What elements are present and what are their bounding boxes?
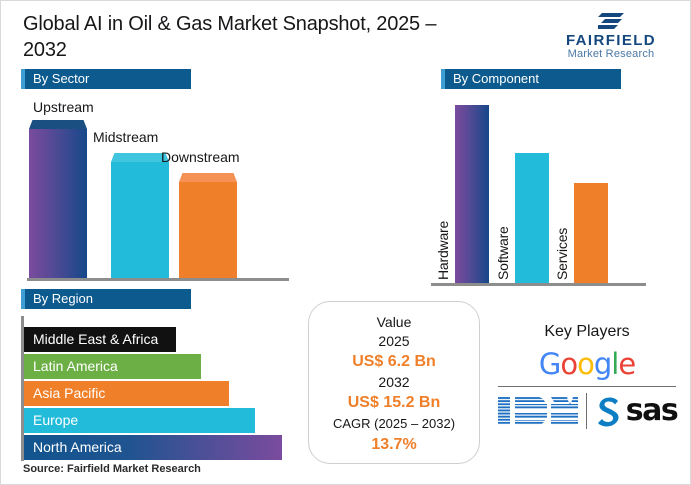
section-banner-sector: By Sector xyxy=(21,69,191,89)
sas-wordmark: sas xyxy=(626,396,677,426)
region-bar-europe: Europe xyxy=(24,408,255,433)
component-label-hardware: Hardware xyxy=(435,221,451,280)
value-box-cagr-value: 13.7% xyxy=(309,434,479,456)
sector-label-upstream: Upstream xyxy=(33,99,94,115)
region-bar-latin-america: Latin America xyxy=(24,354,201,379)
sector-label-midstream: Midstream xyxy=(93,129,158,145)
component-label-software: Software xyxy=(495,226,511,280)
chart-by-region: Middle East & Africa Latin America Asia … xyxy=(21,316,306,461)
component-bar-services xyxy=(574,183,608,283)
value-box-heading: Value xyxy=(309,313,479,332)
sector-bar-downstream xyxy=(179,173,237,278)
key-players-title: Key Players xyxy=(493,323,681,341)
section-banner-component-label: By Component xyxy=(445,69,539,89)
sas-logo: sas xyxy=(594,394,677,428)
value-box-base-year: 2025 xyxy=(309,332,479,351)
google-letter-o1: o xyxy=(560,347,577,381)
region-label: North America xyxy=(24,435,122,460)
region-bar-middle-east-africa: Middle East & Africa xyxy=(24,327,176,352)
brand-logo: FAIRFIELD Market Research xyxy=(550,11,672,61)
bar-cap xyxy=(179,173,237,182)
source-note: Source: Fairfield Market Research xyxy=(23,463,201,475)
google-letter-o2: o xyxy=(577,347,594,381)
component-baseline xyxy=(431,283,646,286)
ibm-logo xyxy=(497,394,579,428)
logo-divider xyxy=(498,386,676,387)
google-logo: Google xyxy=(493,347,681,381)
brand-name: FAIRFIELD xyxy=(550,33,672,48)
region-bar-asia-pacific: Asia Pacific xyxy=(24,381,229,406)
region-label: Asia Pacific xyxy=(24,381,105,406)
value-box-forecast-value: US$ 15.2 Bn xyxy=(309,392,479,414)
key-players-panel: Key Players Google xyxy=(493,323,681,431)
google-letter-g1: G xyxy=(539,347,560,381)
sector-bar-midstream xyxy=(111,153,169,278)
value-box-forecast-year: 2032 xyxy=(309,373,479,392)
value-summary-box: Value 2025 US$ 6.2 Bn 2032 US$ 15.2 Bn C… xyxy=(308,301,480,464)
infographic-canvas: Global AI in Oil & Gas Market Snapshot, … xyxy=(0,0,691,485)
google-letter-e: e xyxy=(618,347,635,381)
logo-separator xyxy=(586,393,587,429)
fairfield-mark-icon xyxy=(596,11,626,31)
region-label: Middle East & Africa xyxy=(24,327,158,352)
section-banner-region-label: By Region xyxy=(25,289,93,309)
bar-cap xyxy=(29,120,87,129)
value-box-cagr-label: CAGR (2025 – 2032) xyxy=(309,414,479,434)
region-label: Latin America xyxy=(24,354,118,379)
component-label-services: Services xyxy=(554,228,570,280)
page-title: Global AI in Oil & Gas Market Snapshot, … xyxy=(23,11,443,63)
brand-subtitle: Market Research xyxy=(550,48,672,61)
logo-row: sas xyxy=(493,391,681,431)
google-letter-g2: g xyxy=(594,347,611,381)
sector-label-downstream: Downstream xyxy=(161,149,240,165)
value-box-base-value: US$ 6.2 Bn xyxy=(309,351,479,373)
bar-body xyxy=(179,182,237,278)
region-bar-north-america: North America xyxy=(24,435,282,460)
sector-bar-upstream xyxy=(29,120,87,278)
section-banner-sector-label: By Sector xyxy=(25,69,89,89)
section-banner-region: By Region xyxy=(21,289,191,309)
component-bar-software xyxy=(515,153,549,283)
sector-baseline xyxy=(27,278,289,281)
chart-by-component: Hardware Software Services xyxy=(431,101,646,286)
bar-body xyxy=(29,129,87,278)
sas-swirl-icon xyxy=(594,394,626,428)
chart-by-sector: Upstream Midstream Downstream xyxy=(21,96,296,281)
region-label: Europe xyxy=(24,408,78,433)
component-bar-hardware xyxy=(455,105,489,283)
section-banner-component: By Component xyxy=(441,69,621,89)
bar-body xyxy=(111,162,169,278)
